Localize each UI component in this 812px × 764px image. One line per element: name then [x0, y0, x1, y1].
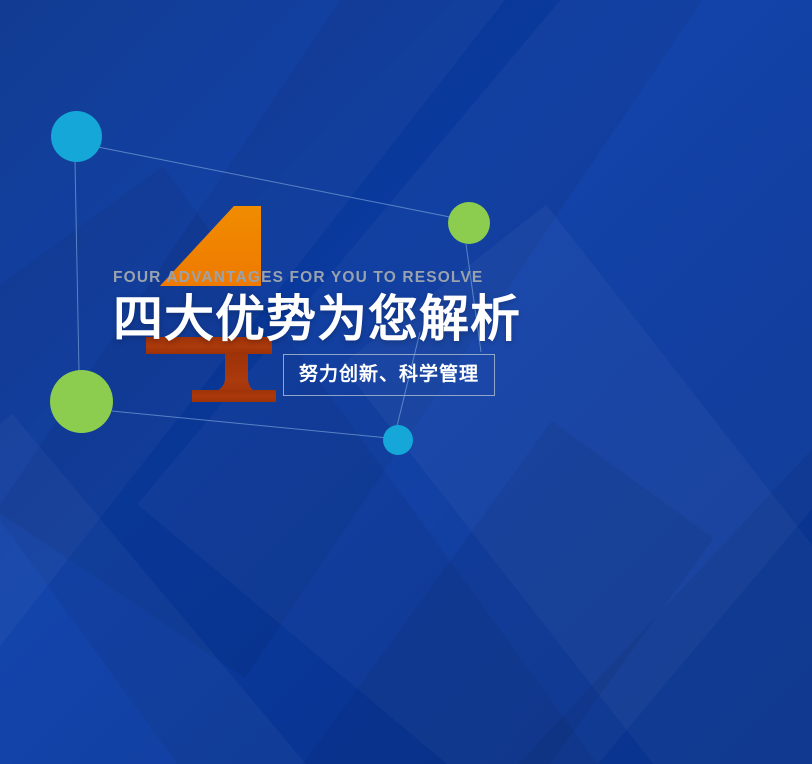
banner-hero: FOUR ADVANTAGES FOR YOU TO RESOLVE 四大优势为…: [0, 0, 812, 764]
cyan-dot-bottom-right: [383, 425, 413, 455]
hero-eyebrow: FOUR ADVANTAGES FOR YOU TO RESOLVE: [113, 268, 673, 288]
cyan-dot-top-left: [51, 111, 102, 162]
page-title: 四大优势为您解析: [113, 290, 673, 348]
green-dot-bottom-left: [50, 370, 113, 433]
tagline-row: 努力创新、科学管理: [283, 354, 673, 396]
tagline-badge: 努力创新、科学管理: [283, 354, 495, 396]
hero-text-block: FOUR ADVANTAGES FOR YOU TO RESOLVE 四大优势为…: [113, 268, 673, 396]
green-dot-top-right: [448, 202, 490, 244]
